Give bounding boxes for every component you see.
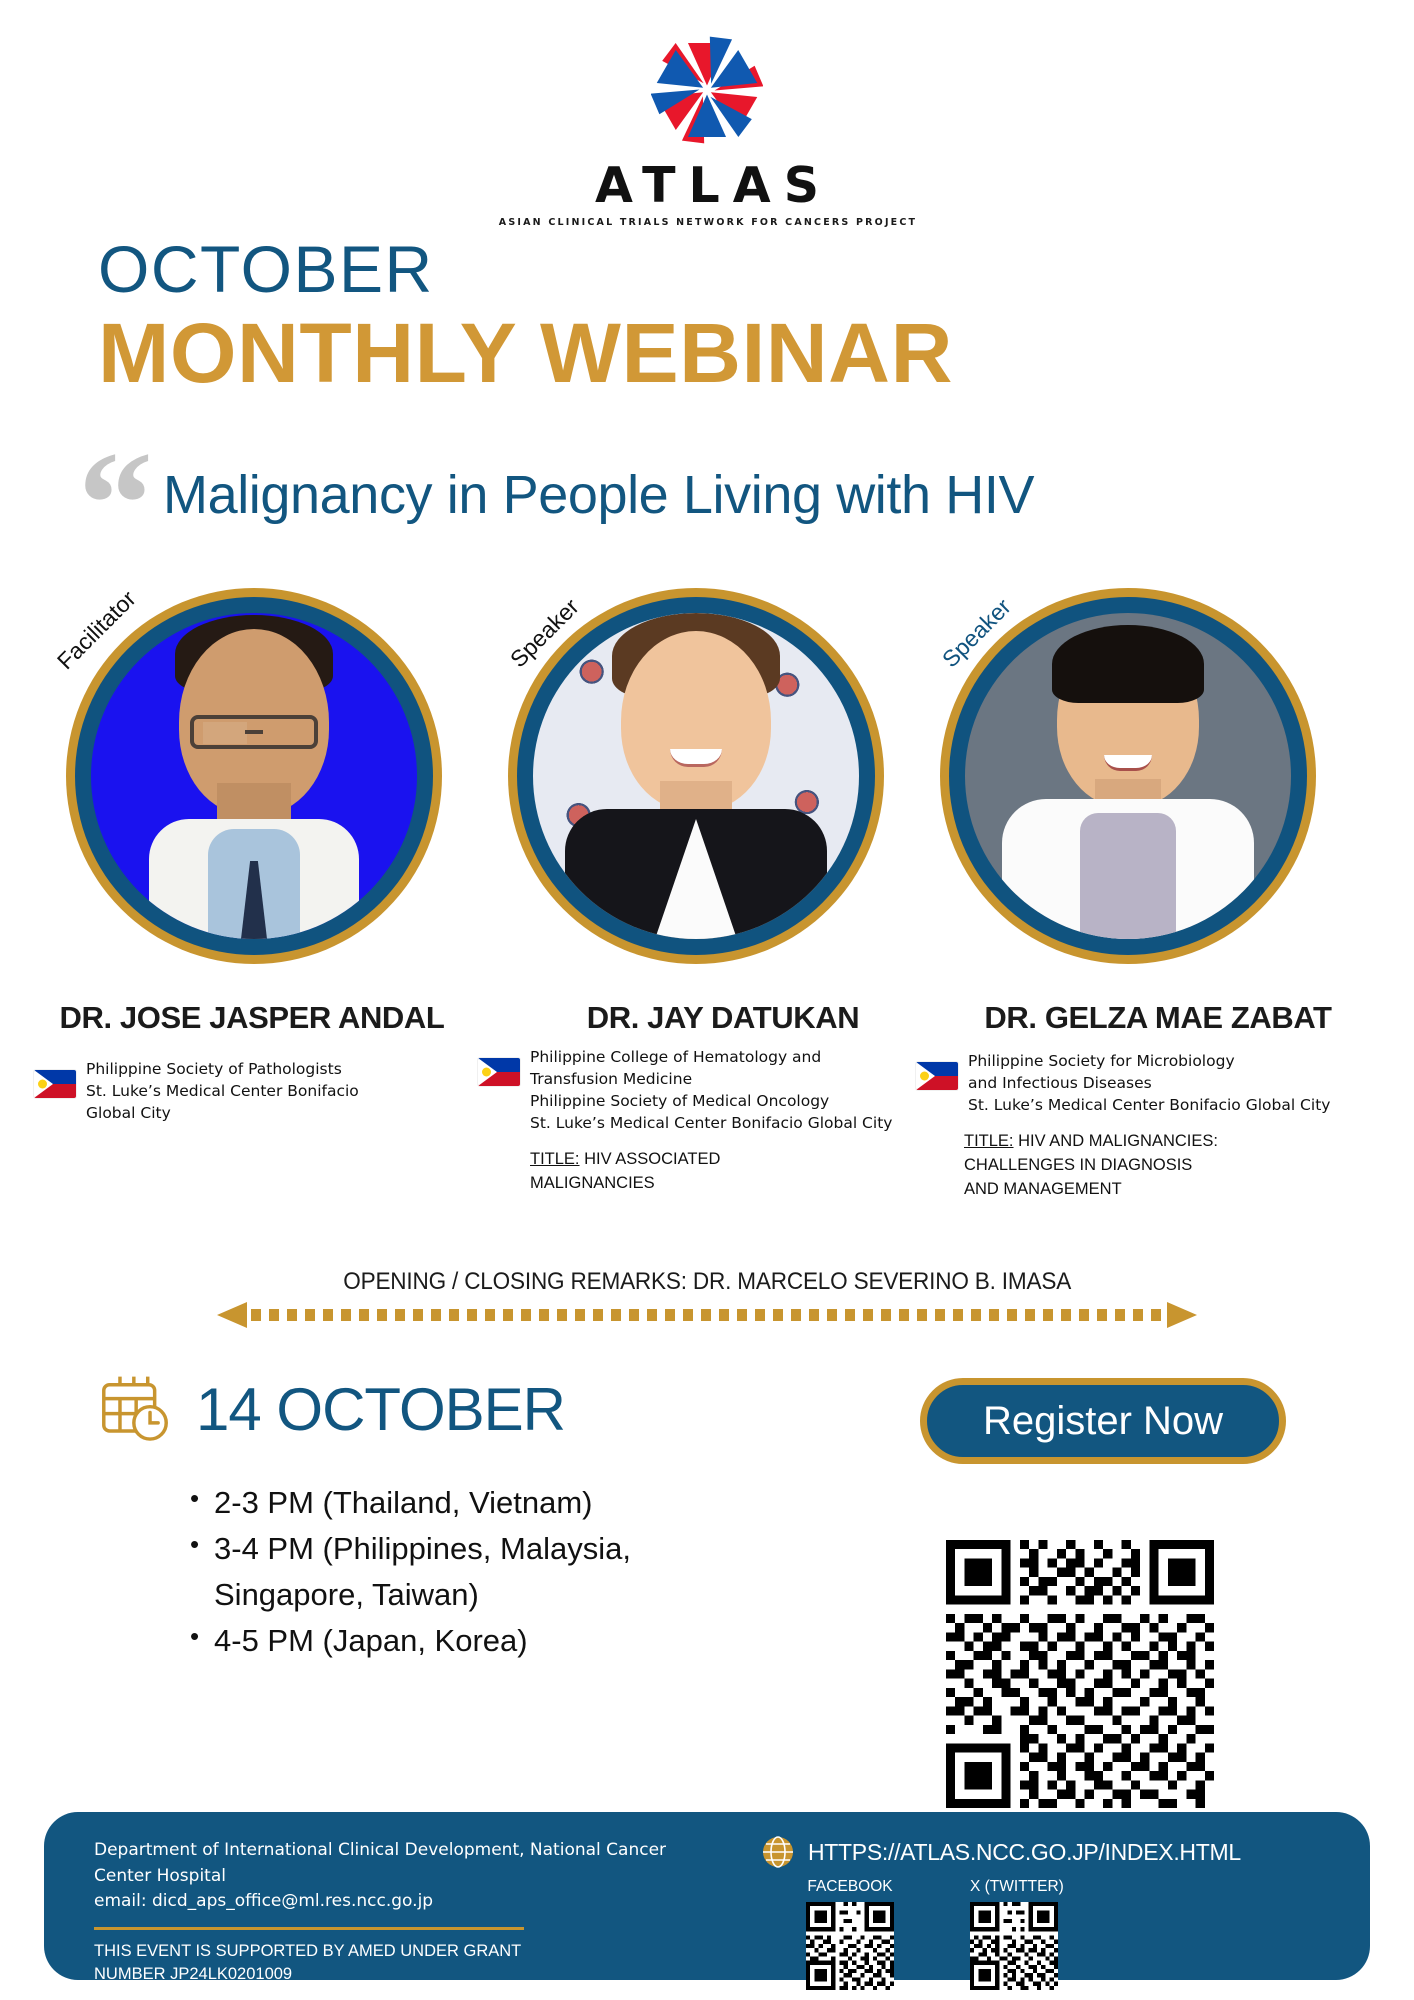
date-row: 14 OCTOBER — [98, 1372, 798, 1446]
avatar — [965, 613, 1291, 939]
avatar — [533, 613, 859, 939]
photo-speaker-2: Speaker — [940, 588, 1316, 964]
social-x-twitter[interactable]: X (TWITTER) — [970, 1878, 1064, 1990]
affiliation-text: Philippine Society for Microbiology and … — [968, 1050, 1330, 1116]
affiliation-row: Philippine Society of Pathologists St. L… — [22, 1058, 482, 1124]
footer-contact: Department of International Clinical Dev… — [44, 1812, 744, 1980]
affiliation-line: St. Luke’s Medical Center Bonifacio — [86, 1080, 359, 1102]
footer-divider — [94, 1927, 524, 1930]
talk-title-line: MALIGNANCIES — [530, 1172, 968, 1196]
photo-speaker-1: Speaker — [508, 588, 884, 964]
philippines-flag-icon — [916, 1062, 958, 1090]
atlas-tagline: ASIAN CLINICAL TRIALS NETWORK FOR CANCER… — [0, 217, 1414, 228]
talk-title-line: HIV ASSOCIATED — [584, 1150, 720, 1168]
talk-title-label: TITLE: — [964, 1132, 1014, 1150]
photo-ring — [66, 588, 442, 964]
photo-ring — [508, 588, 884, 964]
speaker-card: DR. JAY DATUKAN Philippine College of He… — [478, 1000, 968, 1196]
bullet-icon: • — [190, 1526, 214, 1564]
atlas-wordmark: ATLAS — [0, 157, 1414, 214]
calendar-clock-icon — [98, 1372, 172, 1446]
list-item: • Singapore, Taiwan) — [190, 1572, 798, 1618]
headline-block: OCTOBER MONTHLY WEBINAR — [98, 236, 1328, 399]
philippines-flag-icon — [34, 1070, 76, 1098]
philippines-flag-icon — [478, 1058, 520, 1086]
affiliation-line: Philippine Society of Pathologists — [86, 1058, 359, 1080]
x-twitter-qr-code[interactable] — [970, 1902, 1058, 1990]
footer-org-line: Center Hospital — [94, 1864, 744, 1890]
website-row[interactable]: HTTPS://ATLAS.NCC.GO.JP/INDEX.HTML — [762, 1836, 1241, 1868]
affiliation-line: Philippine Society for Microbiology — [968, 1050, 1330, 1072]
webinar-topic: Malignancy in People Living with HIV — [163, 464, 1034, 526]
footer-links: HTTPS://ATLAS.NCC.GO.JP/INDEX.HTML FACEB… — [744, 1812, 1241, 1980]
speaker-name: DR. JAY DATUKAN — [478, 1000, 968, 1036]
photo-ring-inner — [517, 597, 875, 955]
talk-title-line: AND MANAGEMENT — [964, 1178, 1404, 1202]
double-arrow-divider-icon — [217, 1302, 1197, 1328]
affiliation-row: Philippine College of Hematology and Tra… — [478, 1046, 968, 1134]
affiliation-line: St. Luke’s Medical Center Bonifacio Glob… — [530, 1112, 892, 1134]
time-text: 2-3 PM (Thailand, Vietnam) — [214, 1480, 592, 1526]
register-now-button[interactable]: Register Now — [920, 1378, 1286, 1464]
website-url[interactable]: HTTPS://ATLAS.NCC.GO.JP/INDEX.HTML — [808, 1839, 1241, 1866]
affiliation-text: Philippine College of Hematology and Tra… — [530, 1046, 892, 1134]
time-text: 3-4 PM (Philippines, Malaysia, — [214, 1526, 631, 1572]
remarks-banner: OPENING / CLOSING REMARKS: DR. MARCELO S… — [0, 1268, 1414, 1328]
affiliation-line: St. Luke’s Medical Center Bonifacio Glob… — [968, 1094, 1330, 1116]
atlas-pinwheel-logo-icon — [651, 34, 763, 146]
speaker-name: DR. JOSE JASPER ANDAL — [22, 1000, 482, 1036]
registration-block: Register Now — [920, 1378, 1300, 1808]
talk-title-line: CHALLENGES IN DIAGNOSIS — [964, 1154, 1404, 1178]
topic-block: “ Malignancy in People Living with HIV — [78, 450, 1348, 558]
time-text: Singapore, Taiwan) — [214, 1572, 479, 1618]
globe-icon — [762, 1836, 794, 1868]
quote-mark-icon: “ — [78, 450, 147, 558]
talk-title: TITLE: HIV ASSOCIATED MALIGNANCIES — [530, 1148, 968, 1196]
social-qr-group: FACEBOOK — [762, 1878, 1241, 1990]
bullet-icon: • — [190, 1480, 214, 1518]
speaker-card: DR. JOSE JASPER ANDAL Philippine Society… — [22, 1000, 482, 1124]
affiliation-line: Global City — [86, 1102, 359, 1124]
list-item: • 2-3 PM (Thailand, Vietnam) — [190, 1480, 798, 1526]
list-item: • 3-4 PM (Philippines, Malaysia, — [190, 1526, 798, 1572]
affiliation-line: Philippine Society of Medical Oncology — [530, 1090, 892, 1112]
speaker-card: DR. GELZA MAE ZABAT Philippine Society f… — [912, 1000, 1404, 1202]
facebook-qr-code[interactable] — [806, 1902, 894, 1990]
grant-line: THIS EVENT IS SUPPORTED BY AMED UNDER GR… — [94, 1940, 744, 1963]
grant-line: NUMBER JP24LK0201009 — [94, 1963, 744, 1986]
bullet-icon: • — [190, 1618, 214, 1656]
event-date: 14 OCTOBER — [196, 1375, 565, 1444]
footer-email[interactable]: email: dicd_aps_office@ml.res.ncc.go.jp — [94, 1889, 744, 1915]
avatar — [91, 613, 417, 939]
footer-org-line: Department of International Clinical Dev… — [94, 1838, 744, 1864]
time-list: • 2-3 PM (Thailand, Vietnam) • 3-4 PM (P… — [190, 1480, 798, 1664]
photo-ring — [940, 588, 1316, 964]
remarks-text: OPENING / CLOSING REMARKS: DR. MARCELO S… — [343, 1268, 1071, 1296]
talk-title: TITLE: HIV AND MALIGNANCIES: CHALLENGES … — [964, 1130, 1404, 1202]
social-label: X (TWITTER) — [970, 1878, 1064, 1896]
affiliation-row: Philippine Society for Microbiology and … — [912, 1050, 1404, 1116]
affiliation-text: Philippine Society of Pathologists St. L… — [86, 1058, 359, 1124]
speaker-details: DR. JOSE JASPER ANDAL Philippine Society… — [0, 1000, 1414, 1250]
headline-month: OCTOBER — [98, 236, 1328, 302]
time-text: 4-5 PM (Japan, Korea) — [214, 1618, 528, 1664]
photo-ring-inner — [949, 597, 1307, 955]
social-facebook[interactable]: FACEBOOK — [806, 1878, 894, 1990]
headline-title: MONTHLY WEBINAR — [98, 308, 1353, 399]
talk-title-label: TITLE: — [530, 1150, 580, 1168]
affiliation-line: Philippine College of Hematology and — [530, 1046, 892, 1068]
registration-qr-code[interactable] — [946, 1540, 1214, 1808]
speaker-photos: Facilitator Speaker — [0, 588, 1414, 978]
webinar-poster: ATLAS ASIAN CLINICAL TRIALS NETWORK FOR … — [0, 0, 1414, 2000]
footer-bar: Department of International Clinical Dev… — [44, 1812, 1370, 1980]
affiliation-line: and Infectious Diseases — [968, 1072, 1330, 1094]
affiliation-line: Transfusion Medicine — [530, 1068, 892, 1090]
talk-title-line: HIV AND MALIGNANCIES: — [1018, 1132, 1218, 1150]
photo-facilitator: Facilitator — [66, 588, 442, 964]
list-item: • 4-5 PM (Japan, Korea) — [190, 1618, 798, 1664]
schedule-block: 14 OCTOBER • 2-3 PM (Thailand, Vietnam) … — [98, 1372, 798, 1664]
speaker-name: DR. GELZA MAE ZABAT — [912, 1000, 1404, 1036]
social-label: FACEBOOK — [806, 1878, 894, 1896]
photo-ring-inner — [75, 597, 433, 955]
brand-header: ATLAS ASIAN CLINICAL TRIALS NETWORK FOR … — [0, 34, 1414, 228]
